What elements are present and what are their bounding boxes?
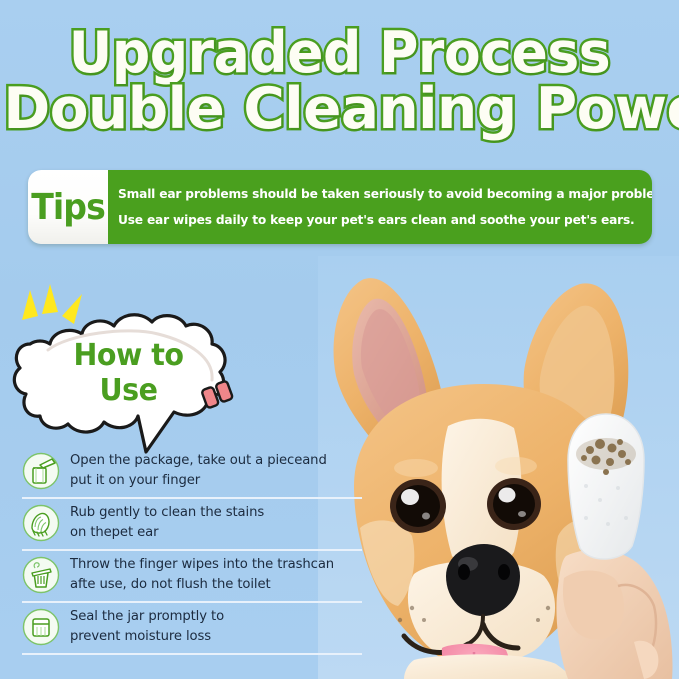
product-photo — [318, 256, 679, 679]
tips-banner: Tips Small ear problems should be taken … — [28, 170, 652, 244]
step-text: Seal the jar promptly to prevent moistur… — [70, 606, 224, 646]
headline: Upgraded Process Double Cleaning Power — [0, 18, 679, 146]
step-line-1: Rub gently to clean the stains — [70, 503, 264, 523]
step-line-2: put it on your finger — [70, 471, 327, 491]
closed-jar-icon — [22, 608, 60, 646]
headline-line-1: Upgraded Process — [20, 22, 658, 84]
trash-can-icon — [22, 556, 60, 594]
tips-label-panel: Tips — [28, 170, 108, 244]
list-item: Throw the finger wipes into the trashcan… — [22, 554, 362, 603]
steps-list: Open the package, take out a pieceand pu… — [22, 450, 362, 658]
step-line-2: afte use, do not flush the toilet — [70, 575, 334, 595]
list-item: Seal the jar promptly to prevent moistur… — [22, 606, 362, 655]
list-item: Rub gently to clean the stains on thepet… — [22, 502, 362, 551]
step-text: Throw the finger wipes into the trashcan… — [70, 554, 334, 594]
step-line-1: Throw the finger wipes into the trashcan — [70, 555, 334, 575]
step-line-2: prevent moisture loss — [70, 627, 224, 647]
burst-icon — [22, 284, 82, 324]
finger-wipe-icon — [22, 504, 60, 542]
list-item: Open the package, take out a pieceand pu… — [22, 450, 362, 499]
step-text: Rub gently to clean the stains on thepet… — [70, 502, 264, 542]
step-line-1: Seal the jar promptly to — [70, 607, 224, 627]
tips-line-2: Use ear wipes daily to keep your pet's e… — [118, 207, 652, 233]
how-to-use-title: How to Use — [41, 338, 217, 408]
headline-line-2: Double Cleaning Power — [3, 78, 675, 140]
infographic-root: Upgraded Process Double Cleaning Power T… — [0, 0, 679, 679]
tips-label: Tips — [31, 187, 105, 228]
tips-body-panel: Small ear problems should be taken serio… — [108, 170, 652, 244]
step-line-2: on thepet ear — [70, 523, 264, 543]
how-to-use-bubble: How to Use — [8, 282, 243, 462]
open-jar-icon — [22, 452, 60, 490]
tips-line-1: Small ear problems should be taken serio… — [118, 181, 652, 207]
step-line-1: Open the package, take out a pieceand — [70, 451, 327, 471]
step-text: Open the package, take out a pieceand pu… — [70, 450, 327, 490]
